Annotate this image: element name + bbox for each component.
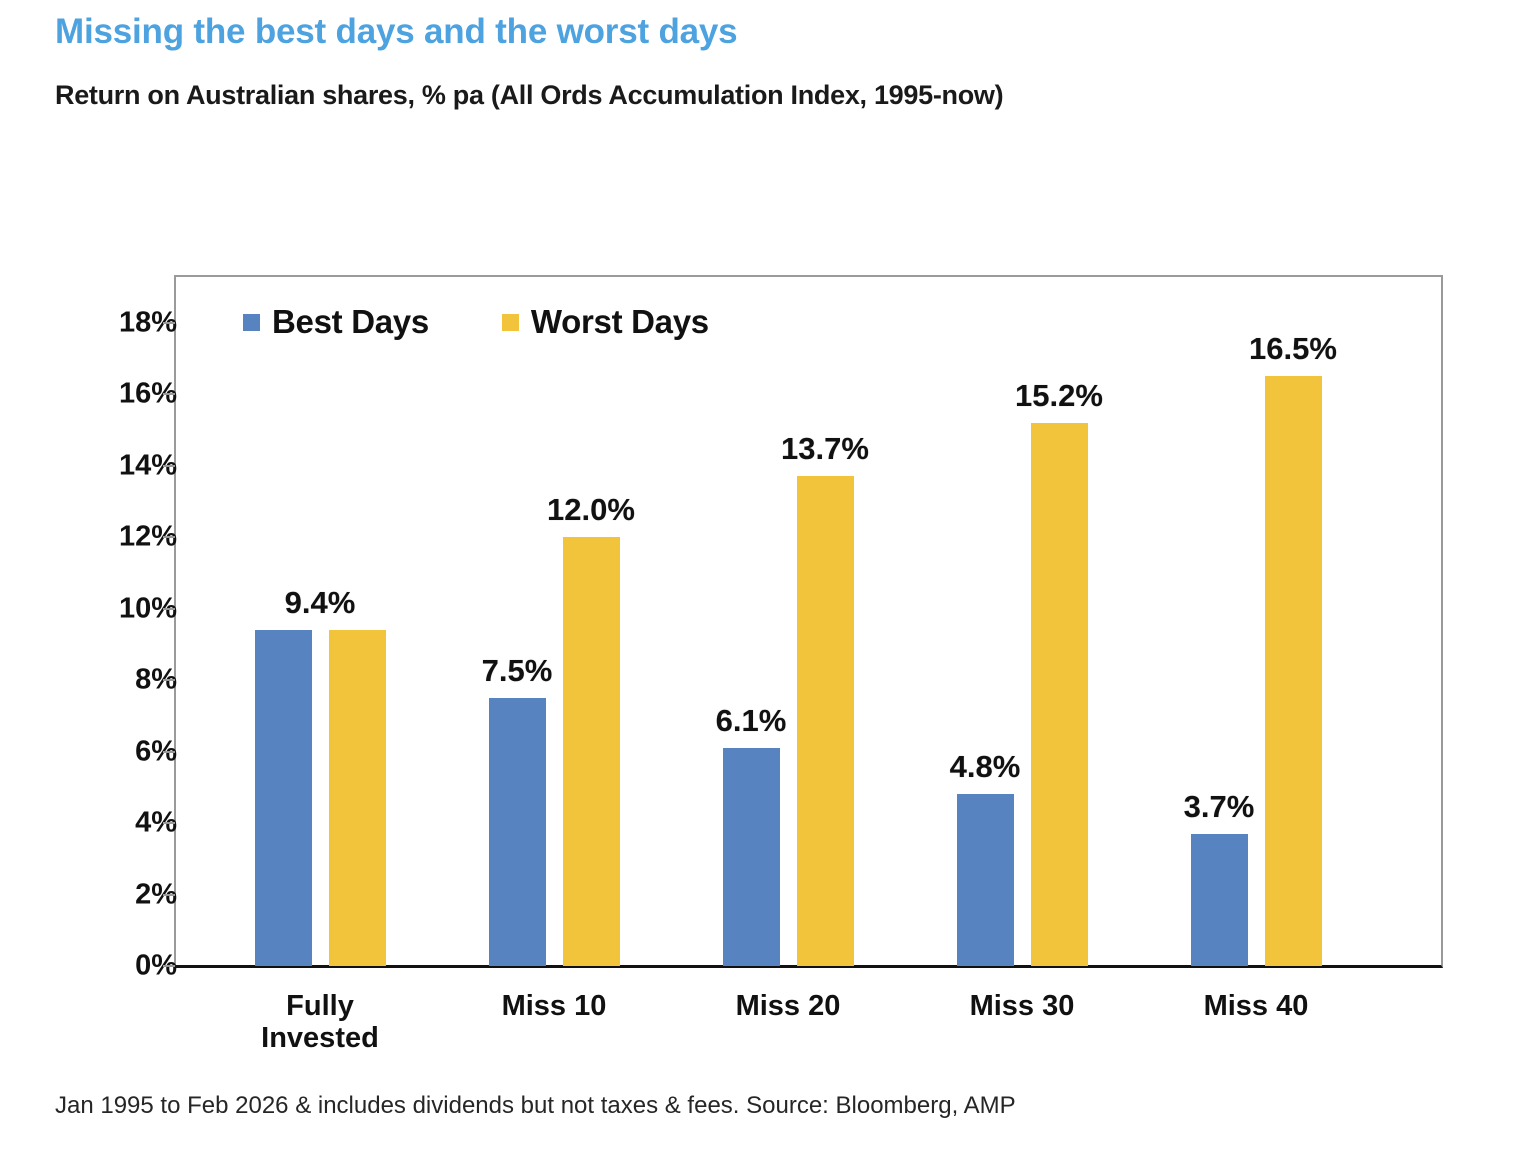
bar-value-label-best-days: 6.1% xyxy=(716,703,787,739)
bar-value-label: 9.4% xyxy=(285,585,356,621)
y-axis-tick-label: 16% xyxy=(57,378,177,411)
legend-label-best-days: Best Days xyxy=(272,303,429,341)
bar-worst-days[interactable] xyxy=(1265,376,1322,966)
legend-label-worst-days: Worst Days xyxy=(531,303,709,341)
bar-worst-days[interactable] xyxy=(797,476,854,966)
legend-swatch-worst-days-icon xyxy=(502,314,519,331)
x-axis-category-label: Miss 20 xyxy=(658,990,918,1022)
y-axis-tick-mark xyxy=(163,751,175,753)
bar-value-label-best-days: 3.7% xyxy=(1184,789,1255,825)
y-axis-tick-mark xyxy=(163,679,175,681)
bar-best-days[interactable] xyxy=(255,630,312,966)
y-axis-tick-label: 10% xyxy=(57,592,177,625)
bar-value-label-worst-days: 16.5% xyxy=(1249,331,1337,367)
bar-value-label-worst-days: 13.7% xyxy=(781,431,869,467)
x-axis-category-label: Miss 10 xyxy=(424,990,684,1022)
x-axis-category-label: Fully Invested xyxy=(190,990,450,1055)
y-axis-tick-mark xyxy=(163,536,175,538)
chart-footnote: Jan 1995 to Feb 2026 & includes dividend… xyxy=(55,1092,1016,1120)
chart-legend: Best Days Worst Days xyxy=(243,303,709,341)
y-axis-tick-mark xyxy=(163,965,175,967)
bar-best-days[interactable] xyxy=(489,698,546,966)
y-axis-tick-label: 2% xyxy=(57,878,177,911)
bar-value-label-worst-days: 15.2% xyxy=(1015,378,1103,414)
y-axis-tick-mark xyxy=(163,322,175,324)
y-axis-tick-label: 4% xyxy=(57,807,177,840)
bar-best-days[interactable] xyxy=(723,748,780,966)
y-axis-tick-mark xyxy=(163,465,175,467)
bar-value-label-best-days: 4.8% xyxy=(950,749,1021,785)
y-axis-tick-label: 18% xyxy=(57,306,177,339)
legend-swatch-best-days-icon xyxy=(243,314,260,331)
y-axis-tick-label: 14% xyxy=(57,449,177,482)
bar-best-days[interactable] xyxy=(957,794,1014,966)
y-axis-tick-label: 12% xyxy=(57,521,177,554)
bar-worst-days[interactable] xyxy=(563,537,620,966)
bar-worst-days[interactable] xyxy=(1031,423,1088,966)
legend-item-worst-days[interactable]: Worst Days xyxy=(502,303,709,341)
y-axis-tick-label: 8% xyxy=(57,664,177,697)
y-axis-tick-label: 6% xyxy=(57,735,177,768)
x-axis-category-label: Miss 30 xyxy=(892,990,1152,1022)
legend-item-best-days[interactable]: Best Days xyxy=(243,303,429,341)
bar-chart: 0%2%4%6%8%10%12%14%16%18% 9.4%7.5%12.0%6… xyxy=(0,0,1526,1152)
bar-best-days[interactable] xyxy=(1191,834,1248,966)
y-axis-tick-label: 0% xyxy=(57,950,177,983)
y-axis-tick-mark xyxy=(163,608,175,610)
x-axis-category-label: Miss 40 xyxy=(1126,990,1386,1022)
y-axis-tick-mark xyxy=(163,822,175,824)
y-axis-tick-mark xyxy=(163,393,175,395)
bar-value-label-worst-days: 12.0% xyxy=(547,492,635,528)
bar-worst-days[interactable] xyxy=(329,630,386,966)
bar-value-label-best-days: 7.5% xyxy=(482,653,553,689)
y-axis-tick-mark xyxy=(163,894,175,896)
